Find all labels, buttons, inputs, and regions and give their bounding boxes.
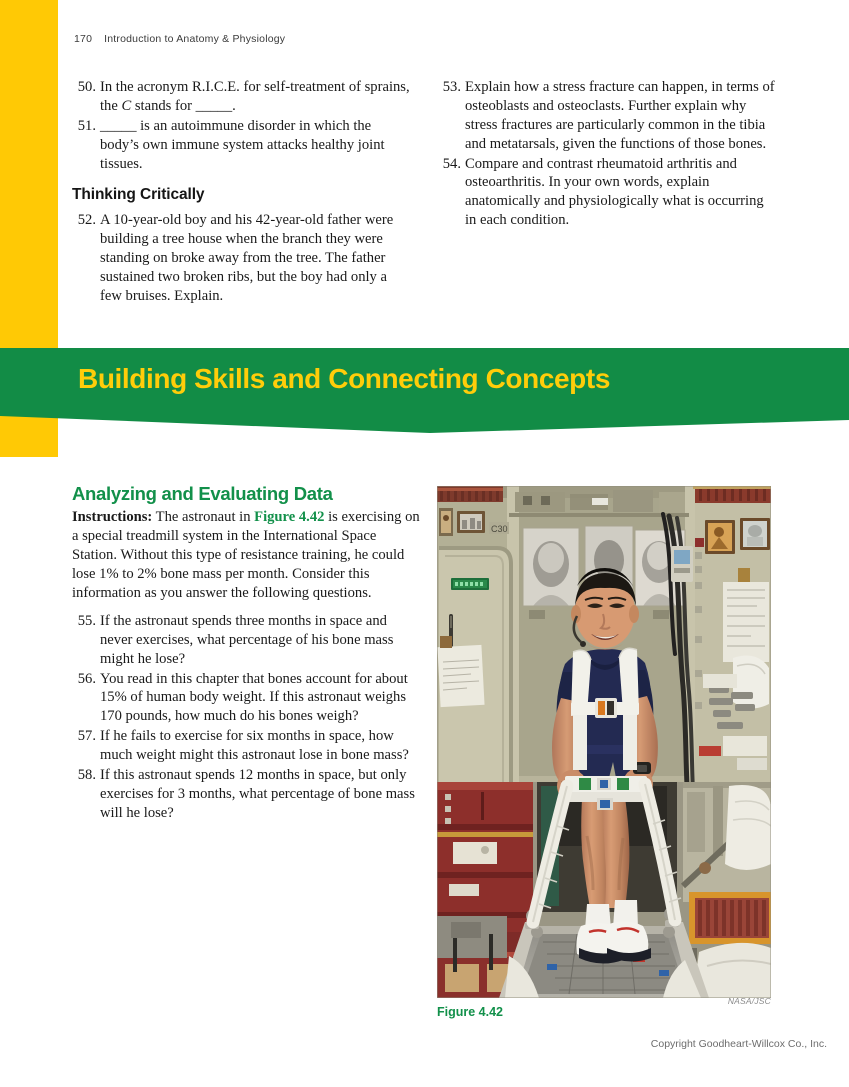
instructions-label: Instructions: (72, 509, 152, 525)
question-list-analyzing: 55. If the astronaut spends three months… (72, 612, 420, 823)
list-item: 50. In the acronym R.I.C.E. for self-tre… (72, 78, 412, 116)
column-left: 50. In the acronym R.I.C.E. for self-tre… (72, 78, 412, 307)
list-item: 54. Compare and contrast rheumatoid arth… (437, 155, 777, 231)
copyright-line: Copyright Goodheart-Willcox Co., Inc. (651, 1038, 827, 1050)
list-item: 58. If this astronaut spends 12 months i… (72, 766, 420, 823)
list-item: 55. If the astronaut spends three months… (72, 612, 420, 669)
running-head: 170Introduction to Anatomy & Physiology (74, 33, 285, 45)
question-number: 51. (72, 117, 96, 136)
figure-block: C30 (437, 486, 771, 1025)
photo-illustration: C30 (437, 486, 771, 998)
question-text: Explain how a stress fracture can happen… (465, 79, 775, 152)
question-number: 53. (437, 78, 461, 97)
question-number: 54. (437, 155, 461, 174)
question-number: 56. (72, 670, 96, 689)
question-list-left: 50. In the acronym R.I.C.E. for self-tre… (72, 78, 412, 173)
list-item: 53. Explain how a stress fracture can ha… (437, 78, 777, 154)
question-list-right: 53. Explain how a stress fracture can ha… (437, 78, 777, 230)
banner-title: Building Skills and Connecting Concepts (78, 363, 610, 395)
question-text: In the acronym R.I.C.E. for self-treatme… (100, 79, 410, 114)
instructions-paragraph: Instructions: The astronaut in Figure 4.… (72, 508, 420, 603)
figure-caption-row: Figure 4.42 NASA/JSC (437, 1005, 771, 1025)
list-item: 51. _____ is an autoimmune disorder in w… (72, 117, 412, 174)
list-item: 56. You read in this chapter that bones … (72, 670, 420, 727)
question-number: 57. (72, 727, 96, 746)
question-text: If he fails to exercise for six months i… (100, 728, 409, 763)
analyzing-section: Analyzing and Evaluating Data Instructio… (72, 483, 420, 824)
instructions-text-1: The astronaut in (152, 509, 254, 525)
question-number: 58. (72, 766, 96, 785)
question-text: Compare and contrast rheumatoid arthriti… (465, 156, 764, 229)
running-head-title: Introduction to Anatomy & Physiology (104, 33, 285, 45)
list-item: 57. If he fails to exercise for six mont… (72, 727, 420, 765)
question-list-thinking-critically: 52. A 10-year-old boy and his 42-year-ol… (72, 211, 412, 305)
figure-label: Figure 4.42 (437, 1005, 503, 1019)
question-text: If the astronaut spends three months in … (100, 613, 393, 667)
question-number: 50. (72, 78, 96, 97)
figure-reference-link[interactable]: Figure 4.42 (254, 509, 324, 525)
section-heading-analyzing: Analyzing and Evaluating Data (72, 483, 420, 505)
svg-text:C30: C30 (491, 524, 508, 534)
question-number: 52. (72, 211, 96, 230)
list-item: 52. A 10-year-old boy and his 42-year-ol… (72, 211, 412, 305)
astronaut-treadmill-photo: C30 (437, 486, 771, 998)
question-text: You read in this chapter that bones acco… (100, 671, 408, 725)
question-text: _____ is an autoimmune disorder in which… (100, 118, 385, 172)
question-text: If this astronaut spends 12 months in sp… (100, 767, 415, 821)
question-text: A 10-year-old boy and his 42-year-old fa… (100, 212, 393, 304)
question-number: 55. (72, 612, 96, 631)
page-number: 170 (74, 33, 92, 45)
column-right: 53. Explain how a stress fracture can ha… (437, 78, 777, 231)
subheading-thinking-critically: Thinking Critically (72, 186, 412, 204)
figure-credit: NASA/JSC (728, 996, 771, 1006)
